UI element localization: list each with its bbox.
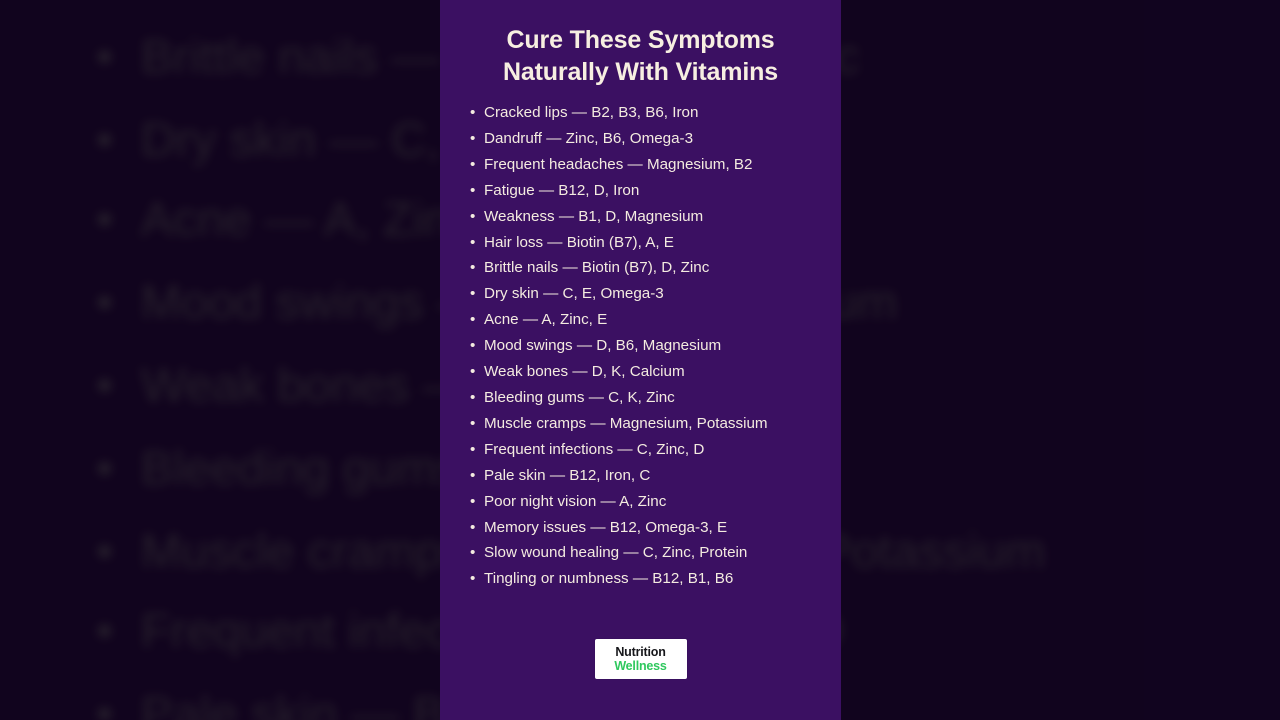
symptom-list-item: Mood swings — D, B6, Magnesium: [470, 333, 827, 359]
symptom-list-item: Bleeding gums — C, K, Zinc: [470, 385, 827, 411]
symptom-list-item: Poor night vision — A, Zinc: [470, 489, 827, 515]
title-line-1: Cure These Symptoms: [454, 24, 827, 56]
video-frame: Cure These Symptoms Naturally With Vitam…: [0, 0, 1280, 720]
symptom-list-item: Acne — A, Zinc, E: [470, 307, 827, 333]
brand-name-secondary: Wellness: [614, 659, 666, 673]
symptom-list-item: Pale skin — B12, Iron, C: [470, 463, 827, 489]
symptom-list-item: Frequent headaches — Magnesium, B2: [470, 152, 827, 178]
page-title: Cure These Symptoms Naturally With Vitam…: [440, 0, 841, 88]
symptom-list-item: Muscle cramps — Magnesium, Potassium: [470, 411, 827, 437]
symptom-list-item: Dry skin — C, E, Omega-3: [470, 281, 827, 307]
symptom-list: Cracked lips — B2, B3, B6, IronDandruff …: [440, 100, 841, 592]
symptom-list-item: Frequent infections — C, Zinc, D: [470, 437, 827, 463]
brand-logo-badge: Nutrition Wellness: [595, 639, 687, 679]
symptom-list-item: Tingling or numbness — B12, B1, B6: [470, 566, 827, 592]
title-line-2: Naturally With Vitamins: [454, 56, 827, 88]
symptom-list-item: Weakness — B1, D, Magnesium: [470, 204, 827, 230]
symptom-list-item: Dandruff — Zinc, B6, Omega-3: [470, 126, 827, 152]
symptom-list-item: Weak bones — D, K, Calcium: [470, 359, 827, 385]
symptom-list-item: Hair loss — Biotin (B7), A, E: [470, 230, 827, 256]
symptom-list-item: Brittle nails — Biotin (B7), D, Zinc: [470, 255, 827, 281]
slide-panel: Cure These Symptoms Naturally With Vitam…: [440, 0, 841, 720]
symptom-list-item: Fatigue — B12, D, Iron: [470, 178, 827, 204]
symptom-list-item: Slow wound healing — C, Zinc, Protein: [470, 540, 827, 566]
brand-name-primary: Nutrition: [615, 645, 665, 659]
symptom-list-item: Memory issues — B12, Omega-3, E: [470, 515, 827, 541]
symptom-list-item: Cracked lips — B2, B3, B6, Iron: [470, 100, 827, 126]
